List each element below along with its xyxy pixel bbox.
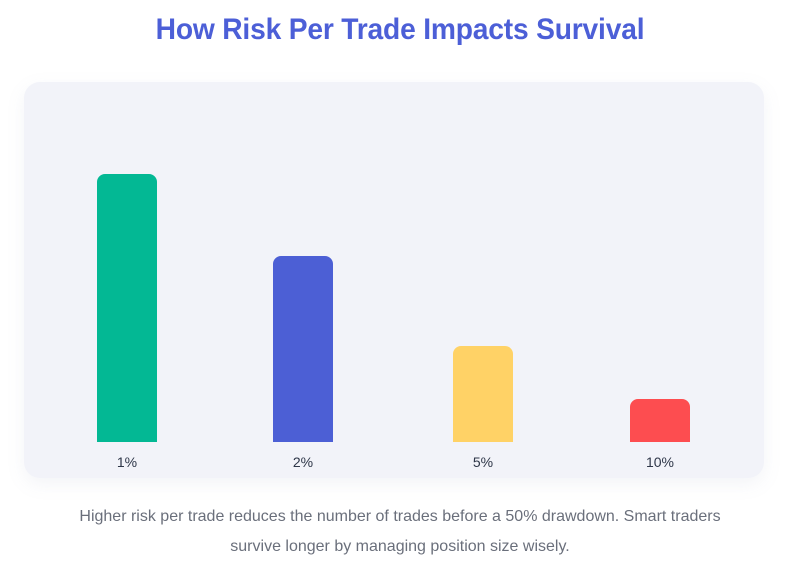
x-tick-label-1pct: 1% xyxy=(67,453,187,471)
bar-group-10pct: 10% xyxy=(630,119,690,442)
bar-series: 1% 2% 5% 10% xyxy=(24,82,764,478)
bar-5pct[interactable] xyxy=(453,346,513,442)
infographic-page: How Risk Per Trade Impacts Survival 1% 2… xyxy=(0,0,800,561)
chart-panel: 1% 2% 5% 10% xyxy=(24,82,764,478)
bar-group-5pct: 5% xyxy=(453,119,513,442)
plot-area: 1% 2% 5% 10% xyxy=(24,82,764,478)
bar-group-2pct: 2% xyxy=(273,119,333,442)
x-tick-label-10pct: 10% xyxy=(600,453,720,471)
bar-2pct[interactable] xyxy=(273,256,333,442)
bar-10pct[interactable] xyxy=(630,399,690,442)
bar-group-1pct: 1% xyxy=(97,119,157,442)
page-title: How Risk Per Trade Impacts Survival xyxy=(24,12,776,48)
x-tick-label-5pct: 5% xyxy=(423,453,543,471)
x-tick-label-2pct: 2% xyxy=(243,453,363,471)
chart-caption: Higher risk per trade reduces the number… xyxy=(60,502,740,562)
bar-1pct[interactable] xyxy=(97,174,157,442)
